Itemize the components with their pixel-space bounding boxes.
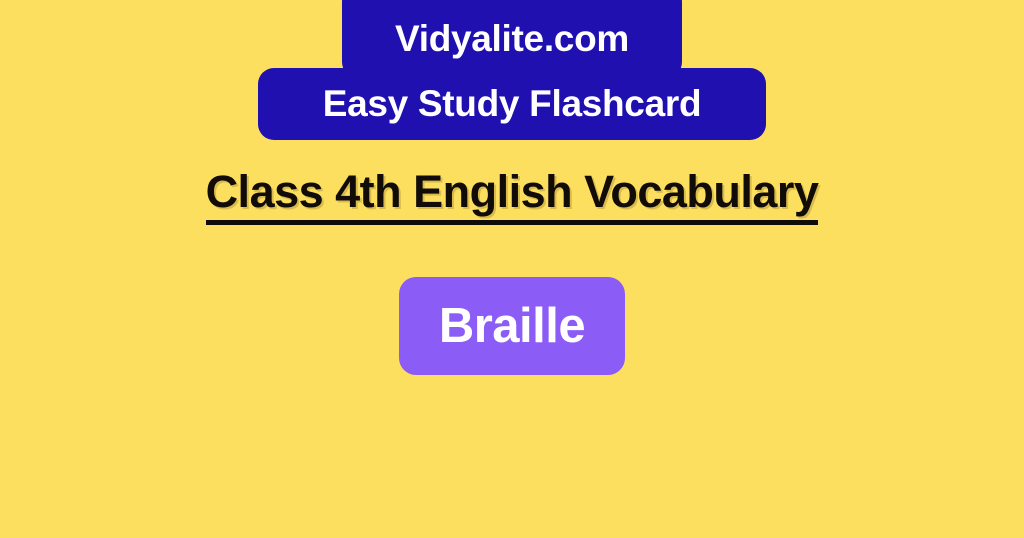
brand-site-name: Vidyalite.com <box>395 18 629 60</box>
lesson-title: Class 4th English Vocabulary <box>0 166 1024 218</box>
answer-area <box>0 390 1024 538</box>
brand-tagline-plate: Easy Study Flashcard <box>258 68 766 140</box>
vocabulary-term-pill: Braille <box>399 277 625 375</box>
brand-site-plate: Vidyalite.com <box>342 0 682 78</box>
vocabulary-term-label: Braille <box>439 298 585 354</box>
brand-header: Vidyalite.com Easy Study Flashcard <box>0 0 1024 150</box>
flashcard-canvas: Vidyalite.com Easy Study Flashcard Class… <box>0 0 1024 538</box>
lesson-title-text: Class 4th English Vocabulary <box>206 166 819 225</box>
brand-tagline: Easy Study Flashcard <box>323 83 702 125</box>
